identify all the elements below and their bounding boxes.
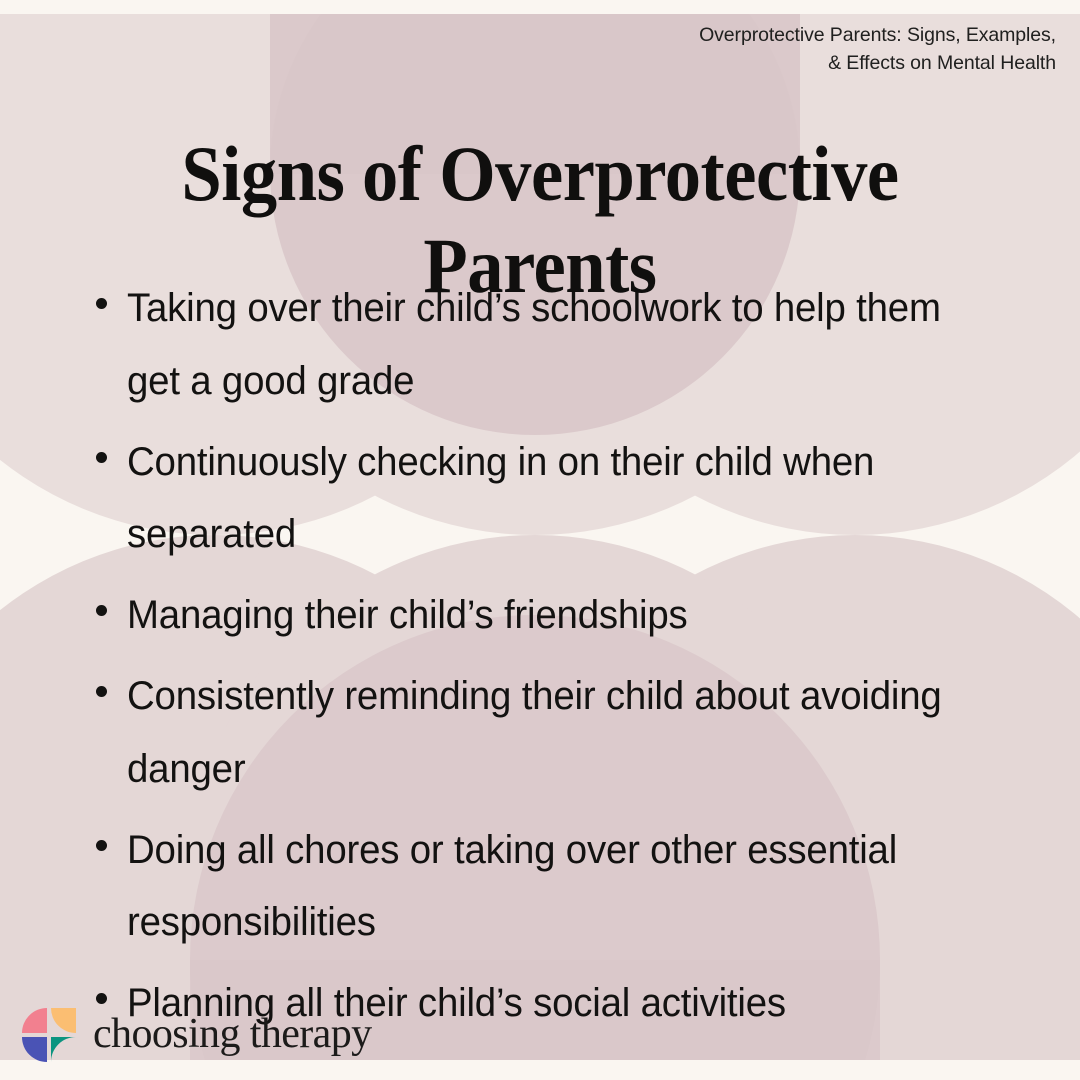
bullet-dot-icon [96, 452, 107, 463]
source-caption: Overprotective Parents: Signs, Examples,… [496, 22, 1056, 77]
brand-wordmark: choosing therapy [93, 1013, 372, 1055]
list-item-label: Taking over their child’s schoolwork to … [127, 272, 980, 418]
list-item: Doing all chores or taking over other es… [96, 814, 1016, 960]
bullet-dot-icon [96, 686, 107, 697]
list-item: Continuously checking in on their child … [96, 426, 1016, 572]
bullet-dot-icon [96, 605, 107, 616]
list-item-label: Managing their child’s friendships [127, 579, 980, 652]
page-title-line-1: Signs of Overprotective [103, 128, 977, 220]
bullet-dot-icon [96, 298, 107, 309]
source-caption-line-1: Overprotective Parents: Signs, Examples, [496, 22, 1056, 50]
bullet-dot-icon [96, 993, 107, 1004]
list-item: Consistently reminding their child about… [96, 660, 1016, 806]
list-item-label: Doing all chores or taking over other es… [127, 814, 980, 960]
choosing-therapy-logo-icon [22, 1006, 76, 1062]
brand-logo: choosing therapy [22, 1006, 372, 1062]
list-item-label: Consistently reminding their child about… [127, 660, 980, 806]
source-caption-line-2: & Effects on Mental Health [496, 50, 1056, 78]
signs-list: Taking over their child’s schoolwork to … [96, 272, 1016, 1048]
bullet-dot-icon [96, 840, 107, 851]
list-item: Managing their child’s friendships [96, 579, 1016, 652]
infographic-canvas: Overprotective Parents: Signs, Examples,… [0, 0, 1080, 1080]
list-item: Taking over their child’s schoolwork to … [96, 272, 1016, 418]
list-item-label: Continuously checking in on their child … [127, 426, 980, 572]
